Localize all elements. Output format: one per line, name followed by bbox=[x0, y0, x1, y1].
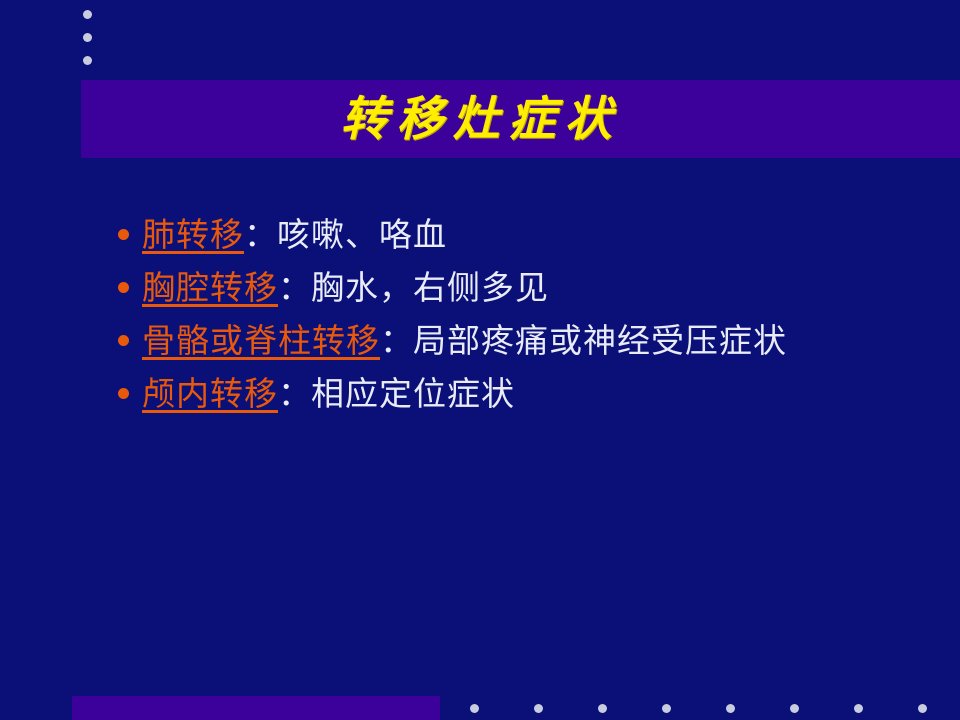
slide-canvas: 转移灶症状 肺转移：咳嗽、咯血 胸腔转移：胸水，右侧多见 骨骼或脊柱转移：局部疼… bbox=[0, 0, 960, 720]
bullet-marker-icon bbox=[112, 320, 142, 362]
bullet-list: 肺转移：咳嗽、咯血 胸腔转移：胸水，右侧多见 骨骼或脊柱转移：局部疼痛或神经受压… bbox=[112, 214, 942, 426]
list-item-description: 胸水，右侧多见 bbox=[311, 268, 549, 307]
bullet-marker-icon bbox=[112, 214, 142, 256]
list-item-description: 相应定位症状 bbox=[311, 374, 515, 413]
title-banner: 转移灶症状 bbox=[81, 80, 960, 158]
decorative-dot bbox=[534, 704, 543, 713]
list-item-colon: ： bbox=[244, 215, 277, 254]
decorative-dot bbox=[83, 33, 92, 42]
list-item: 颅内转移：相应定位症状 bbox=[112, 373, 942, 426]
decorative-dot bbox=[726, 704, 735, 713]
footer-dot-decoration bbox=[470, 704, 940, 718]
list-item-body: 骨骼或脊柱转移：局部疼痛或神经受压症状 bbox=[142, 320, 942, 362]
list-item: 骨骼或脊柱转移：局部疼痛或神经受压症状 bbox=[112, 320, 942, 373]
list-item: 肺转移：咳嗽、咯血 bbox=[112, 214, 942, 267]
list-item-colon: ： bbox=[278, 374, 311, 413]
list-item-term: 骨骼或脊柱转移 bbox=[142, 321, 380, 360]
list-item-description: 局部疼痛或神经受压症状 bbox=[413, 321, 787, 360]
list-item: 胸腔转移：胸水，右侧多见 bbox=[112, 267, 942, 320]
list-item-colon: ： bbox=[278, 268, 311, 307]
footer-accent-bar bbox=[72, 696, 440, 720]
bullet-marker-icon bbox=[112, 373, 142, 415]
bullet-marker-icon bbox=[112, 267, 142, 309]
list-item-term: 胸腔转移 bbox=[142, 268, 278, 307]
list-item-colon: ： bbox=[380, 321, 413, 360]
list-item-body: 颅内转移：相应定位症状 bbox=[142, 373, 942, 415]
list-item-body: 肺转移：咳嗽、咯血 bbox=[142, 214, 942, 256]
list-item-term: 肺转移 bbox=[142, 215, 244, 254]
decorative-dot bbox=[598, 704, 607, 713]
decorative-dot bbox=[83, 56, 92, 65]
decorative-dot bbox=[790, 704, 799, 713]
decorative-dot bbox=[470, 704, 479, 713]
list-item-term: 颅内转移 bbox=[142, 374, 278, 413]
list-item-body: 胸腔转移：胸水，右侧多见 bbox=[142, 267, 942, 309]
decorative-dot bbox=[83, 10, 92, 19]
list-item-description: 咳嗽、咯血 bbox=[277, 215, 447, 254]
decorative-dot bbox=[918, 704, 927, 713]
slide-title: 转移灶症状 bbox=[341, 96, 621, 143]
top-left-dot-decoration bbox=[83, 8, 103, 78]
decorative-dot bbox=[662, 704, 671, 713]
decorative-dot bbox=[854, 704, 863, 713]
